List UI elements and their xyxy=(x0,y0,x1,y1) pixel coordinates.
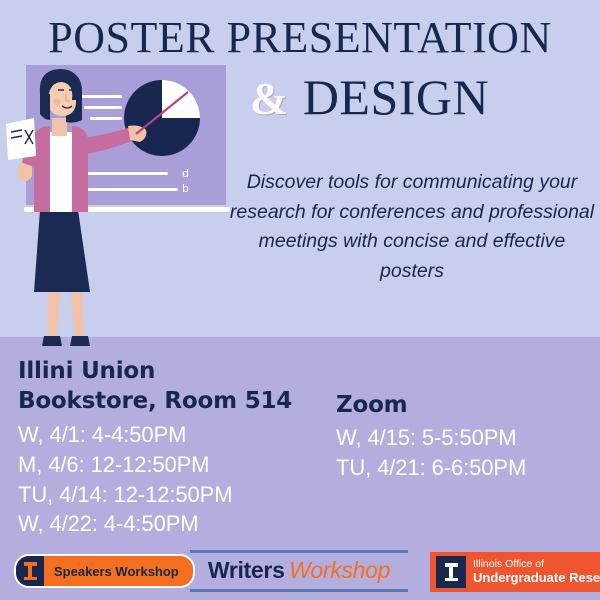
workshop-word: Workshop xyxy=(289,557,390,583)
presenter-illustration: p q xyxy=(0,60,250,350)
footer-logo-bar: Speakers Workshop Writers Workshop Illin… xyxy=(0,546,600,600)
undergraduate-research-logo[interactable]: Illinois Office of Undergraduate Researc… xyxy=(430,552,600,592)
venue-online: Zoom xyxy=(336,390,586,420)
illinois-block-i-icon xyxy=(436,556,466,588)
figure-shoe xyxy=(70,336,90,346)
illinois-block-i-icon xyxy=(16,556,44,586)
figure-blush xyxy=(54,99,61,106)
uor-line-1: Illinois Office of xyxy=(473,559,600,571)
headline-line-1: POSTER PRESENTATION xyxy=(0,16,600,60)
schedule-column-online: Zoom W, 4/15: 5-5:50PM TU, 4/21: 6-6:50P… xyxy=(336,356,586,483)
session-time: W, 4/1: 4-4:50PM xyxy=(18,420,336,450)
venue-line-1: Illini Union xyxy=(18,356,336,386)
schedule-section: Illini Union Bookstore, Room 514 W, 4/1:… xyxy=(18,356,588,539)
session-time: TU, 4/21: 6-6:50PM xyxy=(336,453,586,483)
session-time: TU, 4/14: 12-12:50PM xyxy=(18,480,336,510)
figure-leg xyxy=(70,292,84,336)
poster-canvas: p q xyxy=(0,0,600,600)
headline-line-2: &DESIGN xyxy=(250,72,600,122)
times-in-person: W, 4/1: 4-4:50PM M, 4/6: 12-12:50PM TU, … xyxy=(18,420,336,540)
session-time: W, 4/15: 5-5:50PM xyxy=(336,423,586,453)
venue-in-person: Illini Union Bookstore, Room 514 xyxy=(18,356,336,417)
venue-line-1: Zoom xyxy=(336,390,586,420)
writers-workshop-logo[interactable]: Writers Workshop xyxy=(190,550,408,592)
schedule-column-in-person: Illini Union Bookstore, Room 514 W, 4/1:… xyxy=(18,356,336,539)
speakers-workshop-label: Speakers Workshop xyxy=(44,556,193,586)
board-line xyxy=(84,106,122,109)
session-time: W, 4/22: 4-4:50PM xyxy=(18,509,336,539)
writers-word: Writers xyxy=(208,557,285,583)
speakers-workshop-logo[interactable]: Speakers Workshop xyxy=(14,554,195,588)
open-notebook xyxy=(6,118,36,160)
board-line xyxy=(78,95,122,98)
board-glyph: p xyxy=(182,168,189,181)
times-online: W, 4/15: 5-5:50PM TU, 4/21: 6-6:50PM xyxy=(336,423,586,483)
figure-cardigan xyxy=(34,126,50,212)
figure-shoe xyxy=(42,336,62,346)
description-text: Discover tools for communicating your re… xyxy=(228,168,596,287)
session-time: M, 4/6: 12-12:50PM xyxy=(18,450,336,480)
undergraduate-research-text: Illinois Office of Undergraduate Researc… xyxy=(473,559,600,585)
venue-line-2: Bookstore, Room 514 xyxy=(18,386,336,416)
headline-design-word: DESIGN xyxy=(303,69,489,125)
figure-leg xyxy=(48,292,60,336)
figure-skirt xyxy=(34,210,90,292)
figure-neck xyxy=(52,118,67,136)
uor-line-2: Undergraduate Research xyxy=(473,571,600,585)
board-line xyxy=(90,117,122,120)
board-glyph: q xyxy=(182,183,189,196)
ampersand: & xyxy=(250,73,289,124)
